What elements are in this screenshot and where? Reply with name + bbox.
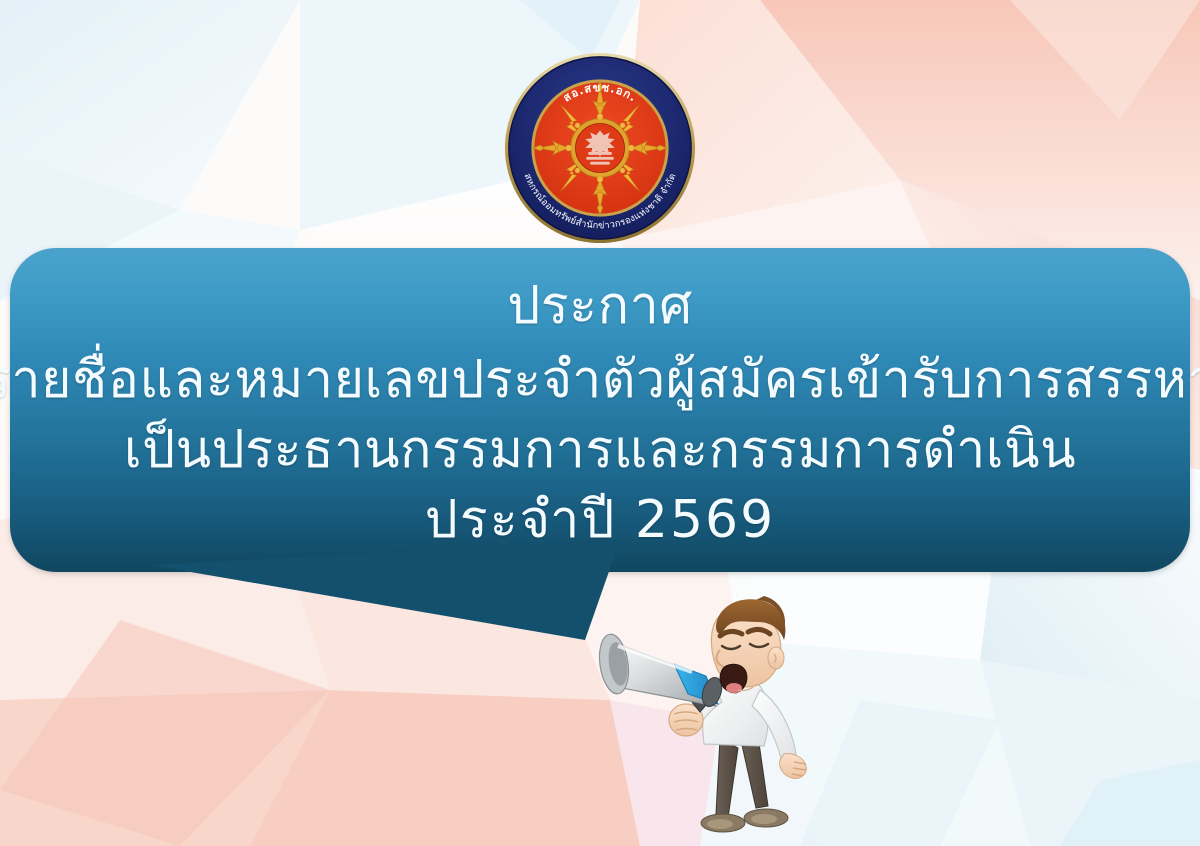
announcement-speech-bubble: ประกาศ รายชื่อและหมายเลขประจำตัวผู้สมัคร… [10,248,1190,572]
mascot-man-with-megaphone [588,578,844,846]
announcement-line-3: ประจำปี 2569 [425,494,775,546]
organization-seal-icon: สอ.สขช.อก. สหกรณ์ออมทรัพย์สำนักข่าวกรองแ… [502,50,698,246]
announcement-heading: ประกาศ [507,280,693,332]
poster-canvas: สอ.สขช.อก. สหกรณ์ออมทรัพย์สำนักข่าวกรองแ… [0,0,1200,846]
announcement-line-2: เป็นประธานกรรมการและกรรมการดำเนิน [124,424,1076,476]
organization-logo: สอ.สขช.อก. สหกรณ์ออมทรัพย์สำนักข่าวกรองแ… [502,50,698,246]
man-with-megaphone-icon [588,578,844,846]
announcement-line-1: รายชื่อและหมายเลขประจำตัวผู้สมัครเข้ารับ… [0,354,1200,406]
